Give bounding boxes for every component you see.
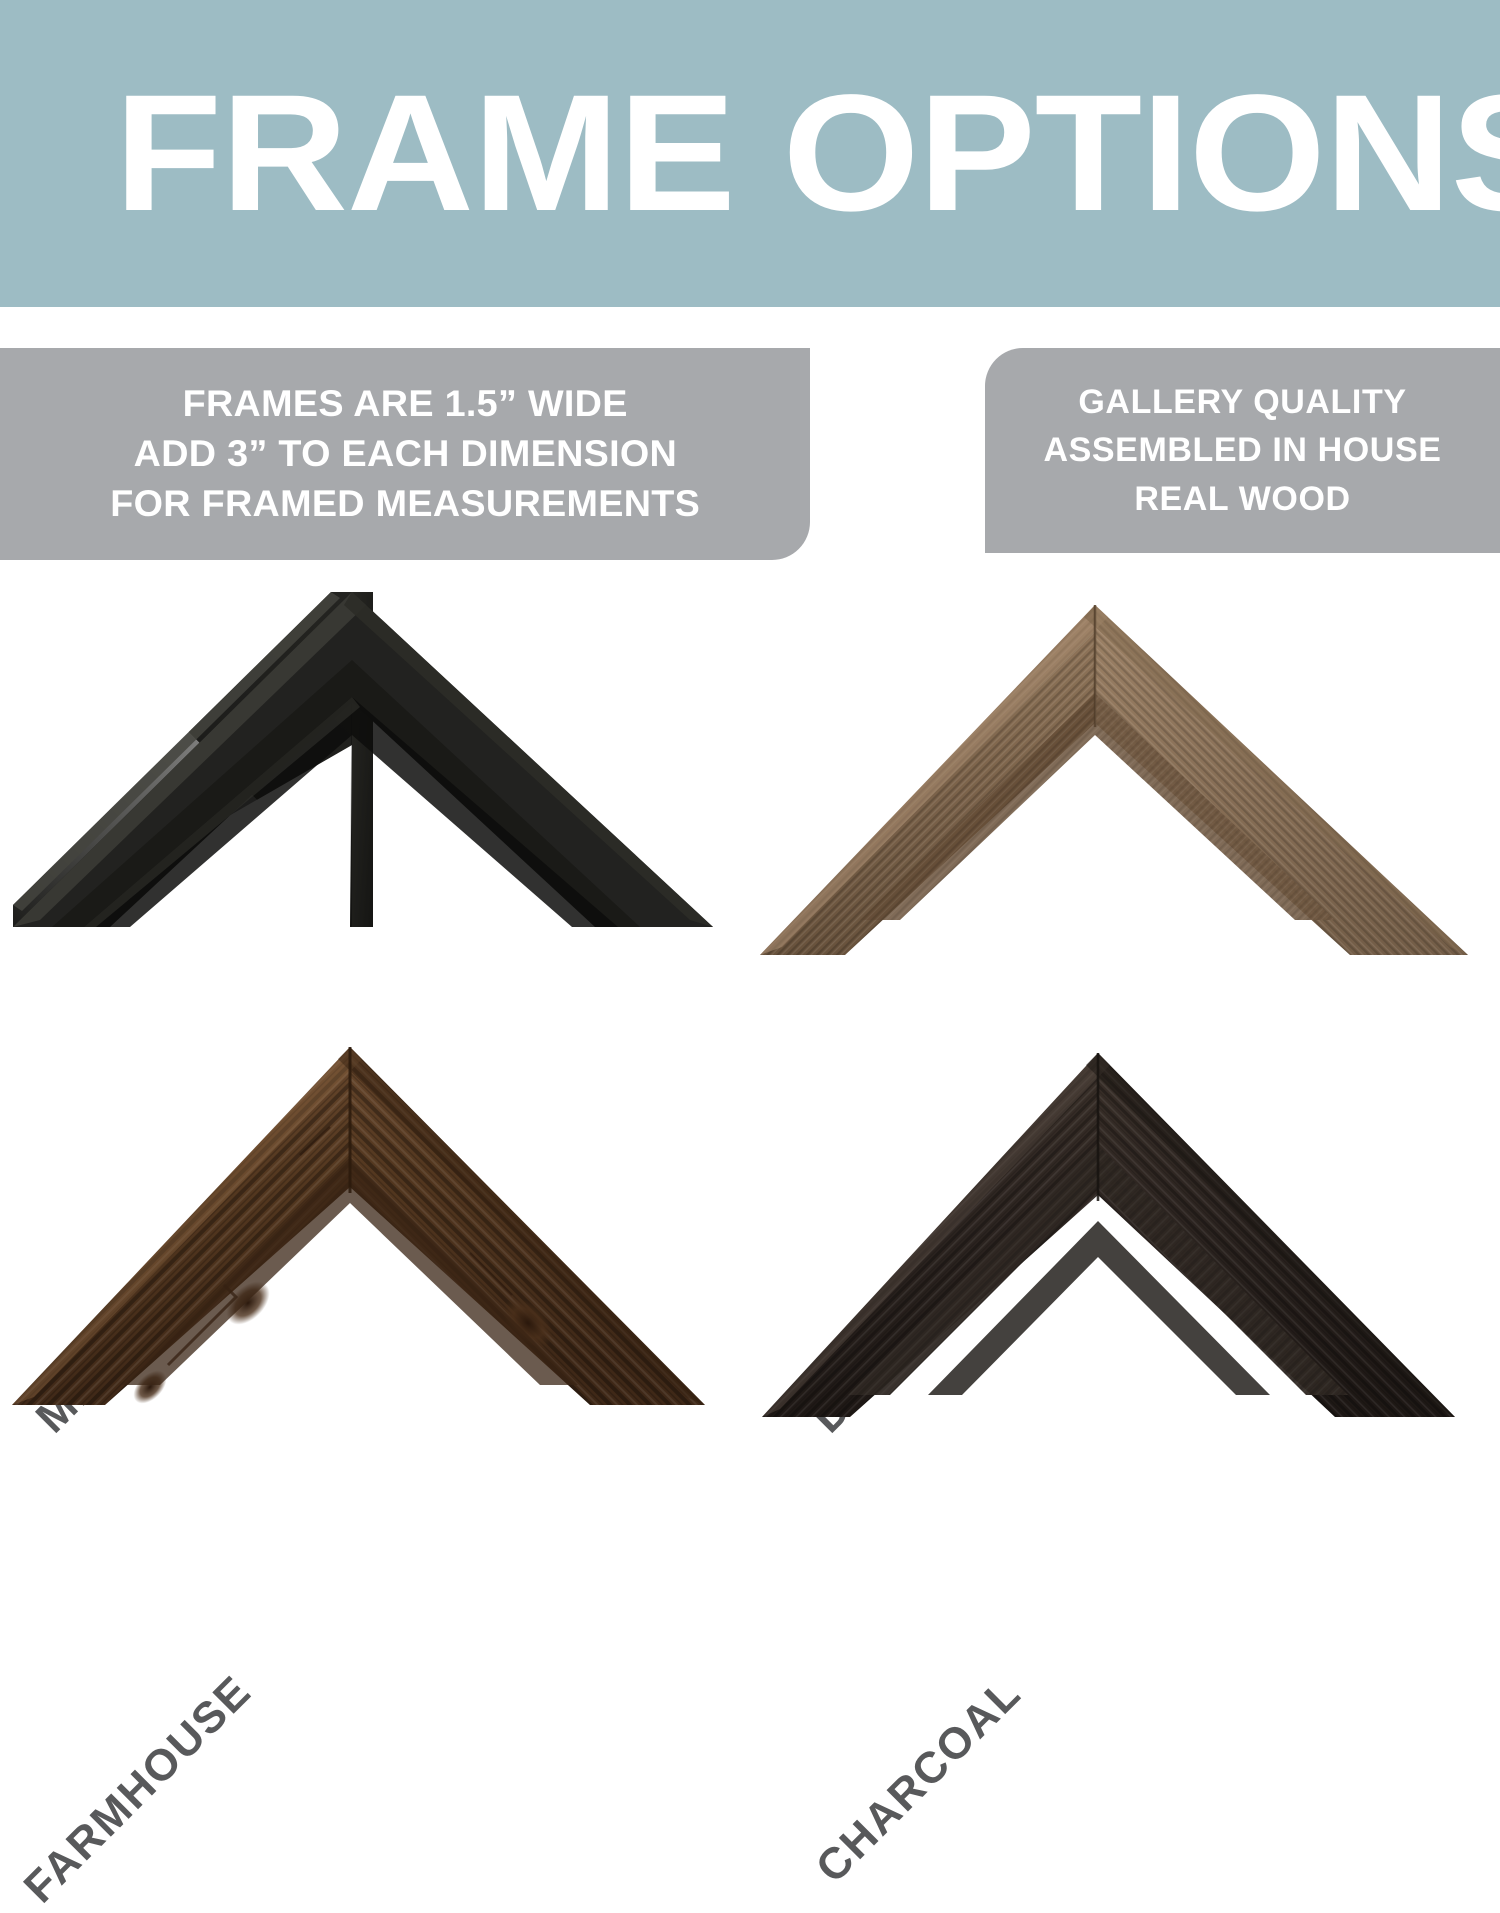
badge-quality: GALLERY QUALITY ASSEMBLED IN HOUSE REAL … bbox=[985, 348, 1500, 553]
header-band: FRAME OPTIONS bbox=[0, 0, 1500, 307]
frame-chevron-midnight bbox=[0, 575, 750, 1035]
badge-measurements-line-2: ADD 3” TO EACH DIMENSION bbox=[133, 429, 676, 479]
page-title: FRAME OPTIONS bbox=[0, 75, 1500, 233]
frame-swatch-midnight[interactable] bbox=[0, 575, 750, 1035]
frame-chevron-charcoal bbox=[750, 1035, 1500, 1495]
badge-measurements-line-3: FOR FRAMED MEASUREMENTS bbox=[110, 479, 700, 529]
frame-swatch-charcoal[interactable] bbox=[750, 1035, 1500, 1495]
badge-quality-line-2: ASSEMBLED IN HOUSE bbox=[1043, 426, 1441, 474]
frame-label-charcoal: CHARCOAL bbox=[807, 1668, 1032, 1893]
badge-quality-line-1: GALLERY QUALITY bbox=[1078, 378, 1406, 426]
badge-quality-line-3: REAL WOOD bbox=[1134, 475, 1350, 523]
badge-measurements-line-1: FRAMES ARE 1.5” WIDE bbox=[182, 379, 627, 429]
frame-label-farmhouse: FARMHOUSE bbox=[15, 1666, 262, 1913]
badge-measurements: FRAMES ARE 1.5” WIDE ADD 3” TO EACH DIME… bbox=[0, 348, 810, 560]
frame-chevron-farmhouse bbox=[0, 1035, 750, 1495]
frame-options-grid: MIDNIGHT bbox=[0, 575, 1500, 1500]
frame-chevron-driftwood bbox=[750, 575, 1500, 1035]
frame-swatch-farmhouse[interactable] bbox=[0, 1035, 750, 1495]
frame-swatch-driftwood[interactable] bbox=[750, 575, 1500, 1035]
